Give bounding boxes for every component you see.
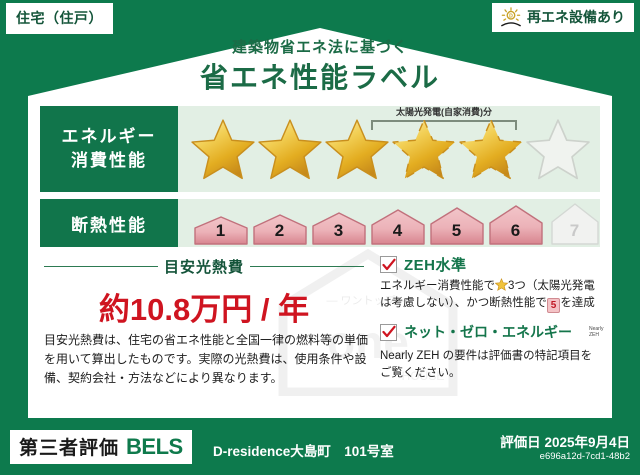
insulation-level-1-number: 1 [192, 221, 249, 241]
insulation-level-scale: 1 2 3 [178, 199, 600, 247]
star-5-solar [458, 114, 524, 184]
energy-performance-label: 住宅（住戸） D 再エ [0, 0, 640, 475]
insulation-level-badge: 5 [547, 298, 561, 313]
insulation-level-7-empty: 7 [546, 202, 603, 245]
star-group [190, 114, 591, 184]
zeh-standard-desc-part1: エネルギー消費性能で [380, 280, 495, 292]
renewable-equipment-tag: D 再エネ設備あり [492, 3, 634, 32]
zeh-standard-description: エネルギー消費性能で3つ（太陽光発電は考慮しない）、かつ断熱性能で5を達成 [380, 278, 602, 313]
estimated-utility-cost-note: 目安光熱費は、住宅の省エネ性能と全国一律の燃料等の単価を用いて算出したものです。… [44, 331, 374, 388]
star-3 [324, 114, 390, 184]
zeh-standard-checkbox[interactable] [380, 256, 397, 273]
label-body: — ワントップ — one HOUSE エネルギー 消費性能 太陽光発電(自家消… [28, 96, 612, 418]
evaluation-id: e696a12d-7cd1-48b2 [540, 451, 630, 462]
net-zero-energy-checkbox[interactable] [380, 324, 397, 341]
energy-star-rating: 太陽光発電(自家消費)分 [178, 106, 600, 192]
insulation-level-4-number: 4 [369, 221, 426, 241]
svg-text:D: D [509, 13, 513, 19]
star-6-empty [525, 114, 591, 184]
energy-label-line2: 消費性能 [71, 149, 147, 173]
insulation-performance-label: 断熱性能 [40, 199, 178, 247]
zeh-panel: ZEH水準 エネルギー消費性能で3つ（太陽光発電は考慮しない）、かつ断熱性能で5… [380, 254, 602, 388]
zeh-standard-title: ZEH水準 [404, 254, 467, 275]
estimated-utility-cost-value: 約10.8万円 / 年 [44, 284, 364, 329]
energy-consumption-label: エネルギー 消費性能 [40, 106, 178, 192]
renewable-equipment-tag-label: 再エネ設備あり [527, 7, 625, 27]
zeh-standard-header: ZEH水準 [380, 254, 602, 275]
insulation-level-6: 6 [487, 204, 544, 245]
estimated-utility-cost-heading: 目安光熱費 [44, 256, 364, 277]
star-2 [257, 114, 323, 184]
sun-solar-icon: D [500, 7, 522, 27]
bels-badge-jp: 第三者評価 [19, 433, 119, 460]
energy-consumption-row: エネルギー 消費性能 太陽光発電(自家消費)分 [40, 106, 600, 192]
insulation-level-6-number: 6 [487, 221, 544, 241]
label-title: 省エネ性能ラベル [0, 56, 640, 96]
net-zero-energy-description: Nearly ZEH の要件は評価書の特記項目をご覧ください。 [380, 348, 602, 382]
bels-badge-en: BELS [126, 434, 183, 460]
heading-rule-right [250, 266, 364, 267]
insulation-level-2: 2 [251, 213, 308, 245]
bels-badge: 第三者評価 BELS [10, 430, 192, 464]
insulation-level-2-number: 2 [251, 221, 308, 241]
estimated-utility-cost-heading-text: 目安光熱費 [164, 256, 244, 277]
building-name: D-residence大島町 101号室 [213, 440, 394, 460]
footer-bar: 第三者評価 BELS D-residence大島町 101号室 評価日 2025… [0, 418, 640, 475]
insulation-level-3-number: 3 [310, 221, 367, 241]
label-subtitle: 建築物省エネ法に基づく [0, 36, 640, 57]
zeh-standard-desc-part3: を達成 [560, 297, 595, 309]
house-type-tag: 住宅（住戸） [6, 3, 113, 34]
energy-label-line1: エネルギー [62, 125, 157, 149]
net-zero-energy-title: ネット・ゼロ・エネルギー [404, 322, 572, 342]
heading-rule-left [44, 266, 158, 267]
insulation-level-7-number: 7 [546, 221, 603, 241]
insulation-level-5-number: 5 [428, 221, 485, 241]
zeh-logo-subtext: Nearly ZEH [589, 326, 603, 338]
insulation-level-5: 5 [428, 206, 485, 245]
insulation-level-4: 4 [369, 208, 426, 245]
star-icon [495, 278, 508, 291]
star-1 [190, 114, 256, 184]
header-band: 住宅（住戸） D 再エ [0, 0, 640, 96]
insulation-performance-row: 断熱性能 1 [40, 199, 600, 247]
net-zero-energy-item: ネット・ゼロ・エネルギー ZEH Nearly ZEH Nearly ZEH の… [380, 319, 602, 382]
evaluation-date: 評価日 2025年9月4日 [500, 431, 630, 451]
house-group: 1 2 3 [192, 202, 603, 245]
star-4-solar [391, 114, 457, 184]
net-zero-energy-header: ネット・ゼロ・エネルギー ZEH Nearly ZEH [380, 319, 602, 345]
insulation-level-3: 3 [310, 211, 367, 245]
zeh-standard-item: ZEH水準 エネルギー消費性能で3つ（太陽光発電は考慮しない）、かつ断熱性能で5… [380, 254, 602, 313]
estimated-utility-cost-block: 目安光熱費 約10.8万円 / 年 [44, 256, 364, 329]
insulation-level-1: 1 [192, 215, 249, 245]
